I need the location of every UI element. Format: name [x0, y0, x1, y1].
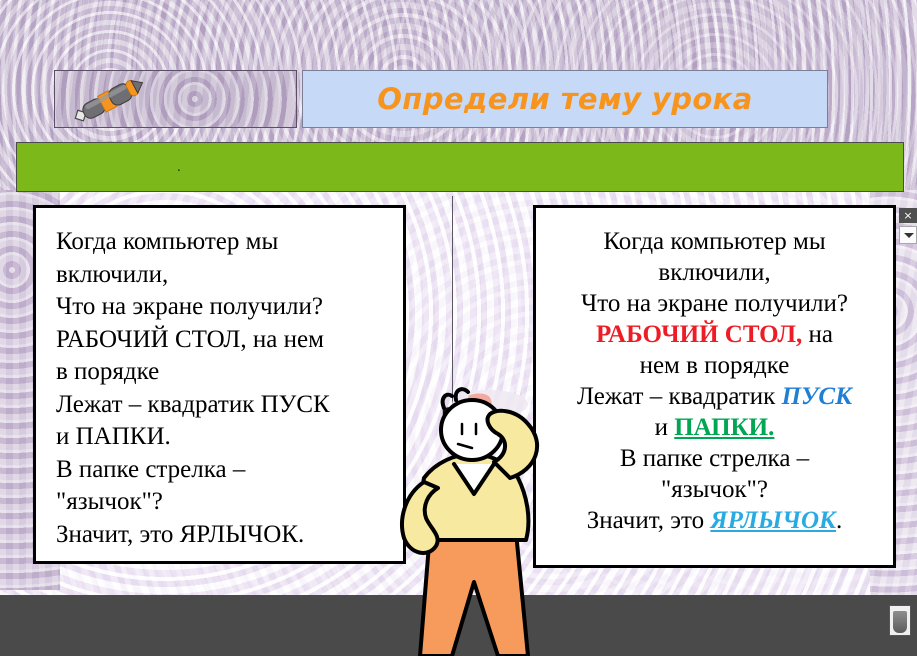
right-line-3-rest: на	[802, 321, 833, 348]
left-line-4b: и ПАПКИ.	[56, 423, 171, 450]
highlight-papki: ПАПКИ.	[674, 414, 774, 441]
left-poem-box: Когда компьютер мы включили, Что на экра…	[33, 205, 406, 564]
right-poem-box: Когда компьютер мы включили, Что на экра…	[533, 205, 896, 568]
left-line-5a: В папке стрелка –	[56, 456, 245, 483]
highlight-pusk: ПУСК	[782, 383, 852, 410]
left-line-6: Значит, это ЯРЛЫЧОК.	[56, 521, 304, 548]
right-line-1b: включили,	[658, 259, 770, 286]
highlight-yarlychok: ЯРЛЫЧОК	[710, 507, 836, 534]
left-line-1b: включили,	[56, 261, 168, 288]
green-bar-text: .	[177, 160, 181, 175]
right-line-4b-pre: и	[655, 414, 675, 441]
left-line-1a: Когда компьютер мы	[56, 228, 278, 255]
left-line-3b: в порядке	[56, 358, 159, 385]
slide-canvas: Определи тему урока . Когда компьютер мы…	[0, 0, 917, 656]
pen-icon	[63, 77, 153, 125]
right-line-5a: В папке стрелка –	[620, 445, 809, 472]
green-content-bar: .	[16, 142, 904, 192]
page-title: Определи тему урока	[377, 82, 752, 116]
right-poem-text: Когда компьютер мы включили, Что на экра…	[536, 208, 893, 536]
highlight-rabochiy-stol: РАБОЧИЙ СТОЛ,	[596, 321, 802, 348]
left-poem-text: Когда компьютер мы включили, Что на экра…	[36, 208, 403, 551]
left-line-2: Что на экране получили?	[56, 293, 323, 320]
right-line-1a: Когда компьютер мы	[603, 228, 825, 255]
left-line-3a: РАБОЧИЙ СТОЛ, на нем	[56, 326, 324, 353]
header-icon-panel	[54, 70, 297, 128]
right-line-5b: "язычок"?	[661, 476, 768, 503]
right-line-6-pre: Значит, это	[587, 507, 711, 534]
close-icon[interactable]: ×	[899, 208, 917, 223]
left-line-5b: "язычок"?	[56, 488, 163, 515]
chevron-down-icon[interactable]	[899, 226, 917, 244]
right-line-3b: нем в порядке	[640, 352, 790, 379]
right-line-4-pre: Лежат – квадратик	[577, 383, 782, 410]
trash-icon[interactable]	[889, 605, 911, 636]
left-line-4a: Лежат – квадратик ПУСК	[56, 391, 330, 418]
right-line-2: Что на экране получили?	[581, 290, 848, 317]
right-line-6-post: .	[836, 507, 842, 534]
thinking-person-illustration	[386, 382, 561, 656]
header-title-panel: Определи тему урока	[302, 70, 828, 128]
